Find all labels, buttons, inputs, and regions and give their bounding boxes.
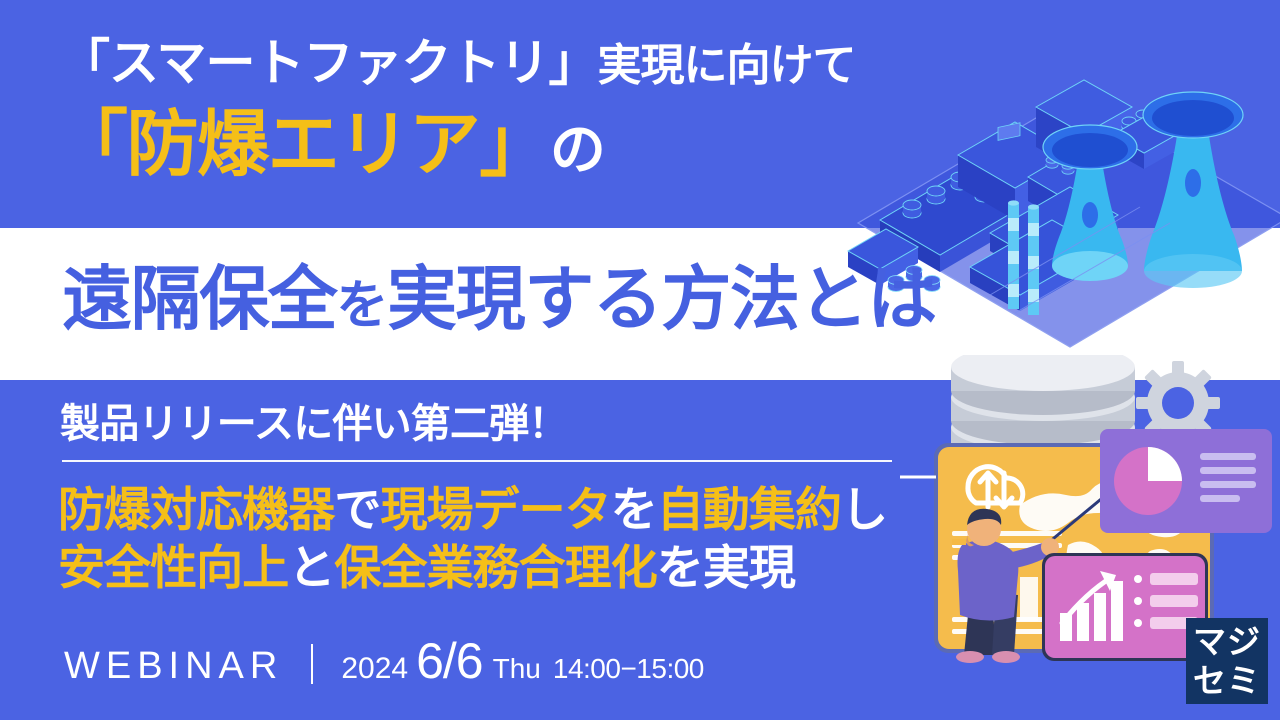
seg-4: 自動集約 <box>657 483 841 538</box>
seg-2: 保全業務合理化 <box>334 541 656 596</box>
webinar-day-of-week: Thu <box>493 653 541 685</box>
webinar-date: 6/6 <box>416 632 483 690</box>
headline-line-3-b: を <box>336 276 387 336</box>
seg-1: と <box>288 541 334 596</box>
logo-line-1: マジ <box>1193 622 1261 661</box>
headline-line-1: 「スマートファクトリ」実現に向けて <box>60 34 856 95</box>
webinar-year: 2024 <box>341 652 408 686</box>
headline-line-1-b: 実現に向けて <box>598 40 856 91</box>
webinar-footer: WEBINAR 2024 6/6 Thu 14:00−15:00 <box>64 632 704 690</box>
subhead-lead: 製品リリースに伴い第二弾！ <box>60 400 568 448</box>
webinar-label: WEBINAR <box>64 645 283 688</box>
headline-line-3-c: 実現する方法とは <box>387 258 936 340</box>
headline-line-2: 「防爆エリア」の <box>56 102 604 193</box>
seg-1: で <box>334 483 380 538</box>
seg-3: を実現 <box>657 541 795 596</box>
headline-line-2-a: 「防爆エリア」 <box>56 102 550 186</box>
webinar-time: 14:00−15:00 <box>553 653 704 685</box>
footer-divider <box>311 644 313 684</box>
subhead-line-2: 安全性向上と保全業務合理化を実現 <box>58 540 795 597</box>
seg-0: 防爆対応機器 <box>58 483 334 538</box>
headline-line-1-a: 「スマートファクトリ」 <box>60 34 598 92</box>
subhead-line-1: 防爆対応機器で現場データを自動集約し <box>58 482 887 539</box>
logo-line-2: セミ <box>1193 661 1261 700</box>
majisemi-logo[interactable]: マジ セミ <box>1186 618 1268 704</box>
headline-line-2-b: の <box>550 118 605 183</box>
seg-3: を <box>611 483 657 538</box>
subhead-divider <box>62 460 892 462</box>
seg-0: 安全性向上 <box>58 541 288 596</box>
seg-5: し <box>841 483 887 538</box>
headline-line-3: 遠隔保全を実現する方法とは <box>62 258 936 347</box>
seg-2: 現場データ <box>380 483 610 538</box>
headline-line-3-a: 遠隔保全 <box>62 258 336 340</box>
pie-chart-card <box>1100 429 1272 533</box>
bar-chart-card <box>1042 553 1208 661</box>
webinar-banner: 「スマートファクトリ」実現に向けて 「防爆エリア」の 遠隔保全を実現する方法とは… <box>0 0 1280 720</box>
